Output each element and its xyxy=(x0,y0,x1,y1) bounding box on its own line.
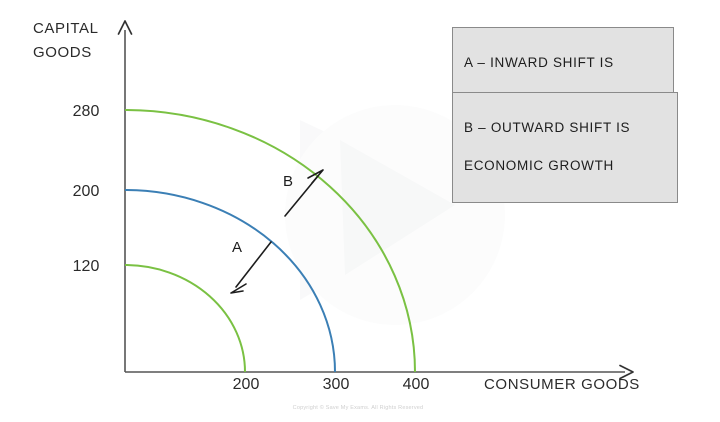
legend-b-line2: ECONOMIC GROWTH xyxy=(464,156,667,175)
ppc-curve-inner xyxy=(125,265,245,372)
y-tick-200: 200 xyxy=(73,183,100,200)
diagram-canvas: CAPITAL GOODS CONSUMER GOODS 280 200 120… xyxy=(0,0,720,422)
legend-a-line1: A – INWARD SHIFT IS xyxy=(464,53,663,72)
legend-box-b: B – OUTWARD SHIFT IS ECONOMIC GROWTH xyxy=(452,92,678,203)
x-tick-200: 200 xyxy=(233,376,260,393)
y-axis xyxy=(119,21,132,372)
x-tick-400: 400 xyxy=(403,376,430,393)
annotation-label-a: A xyxy=(232,239,242,256)
x-axis-label: CONSUMER GOODS xyxy=(484,376,640,393)
legend-b-line1: B – OUTWARD SHIFT IS xyxy=(464,118,667,137)
x-tick-300: 300 xyxy=(323,376,350,393)
y-axis-label-line1: CAPITAL xyxy=(33,20,99,37)
y-tick-120: 120 xyxy=(73,258,100,275)
copyright-text: Copyright © Save My Exams. All Rights Re… xyxy=(293,404,424,411)
y-axis-label-line2: GOODS xyxy=(33,44,92,61)
annotation-label-b: B xyxy=(283,173,293,190)
y-tick-280: 280 xyxy=(73,103,100,120)
